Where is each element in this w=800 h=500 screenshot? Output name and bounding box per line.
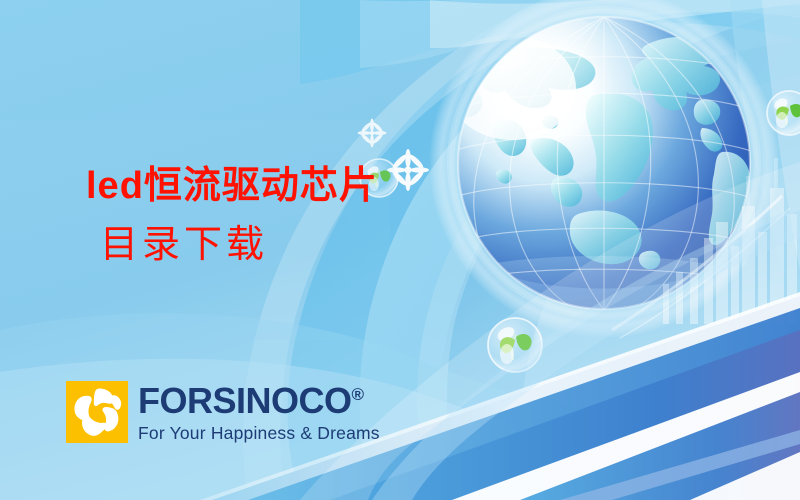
headline-text: led恒流驱动芯片 目录下载 bbox=[86, 164, 378, 268]
logo-wordmark: FORSINOCO® bbox=[138, 383, 380, 419]
logo-wordmark-text: FORSINOCO bbox=[138, 380, 352, 421]
company-logo[interactable]: FORSINOCO® For Your Happiness & Dreams bbox=[66, 381, 380, 443]
headline-line-2: 目录下载 bbox=[86, 223, 378, 268]
logo-mark-flower-icon bbox=[66, 381, 128, 443]
flower-petals-icon bbox=[66, 381, 128, 443]
headline-line-1: led恒流驱动芯片 bbox=[86, 164, 378, 209]
logo-tagline: For Your Happiness & Dreams bbox=[138, 425, 380, 443]
registered-trademark-icon: ® bbox=[352, 385, 365, 404]
logo-text-block: FORSINOCO® For Your Happiness & Dreams bbox=[138, 381, 380, 443]
promo-banner: led恒流驱动芯片 目录下载 bbox=[0, 0, 800, 500]
